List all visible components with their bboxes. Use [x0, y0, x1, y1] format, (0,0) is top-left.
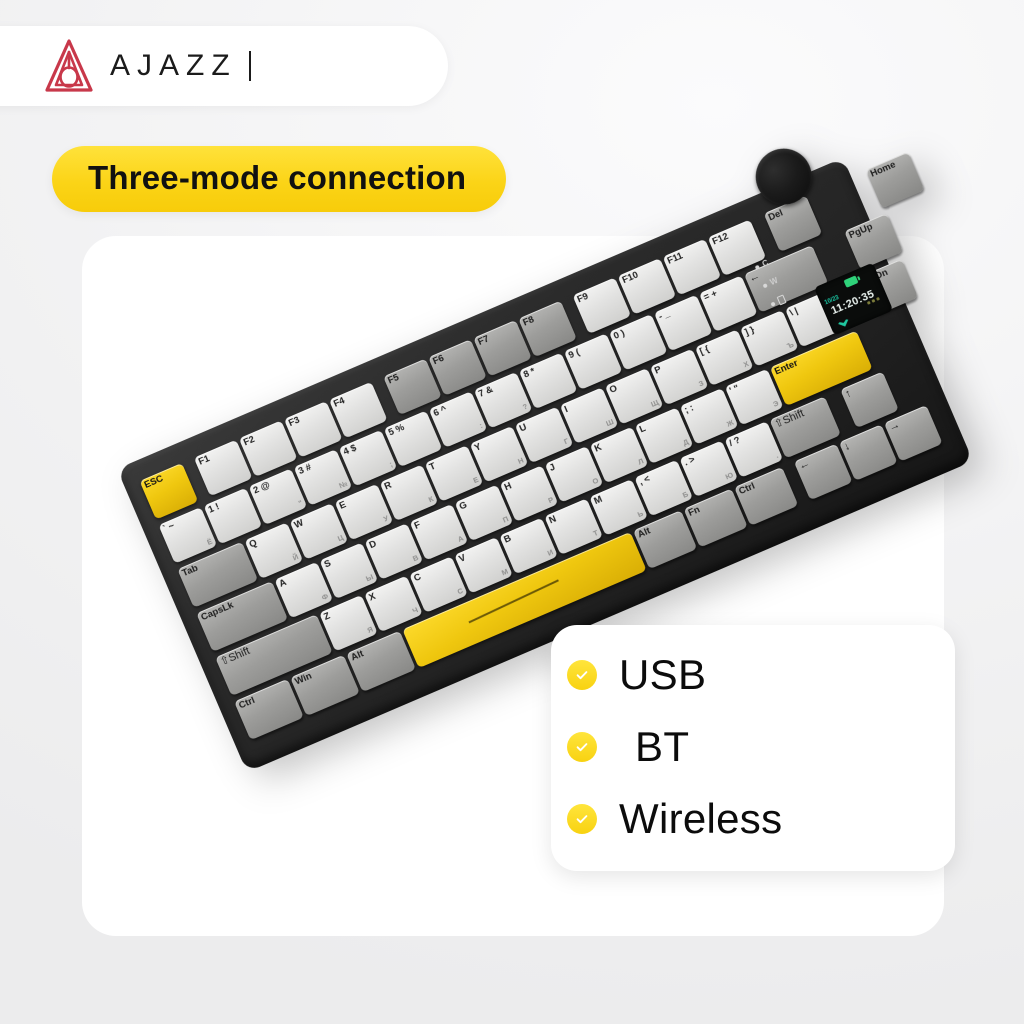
brand-logo-pill: AJAZZ: [0, 26, 448, 106]
feature-list-card: USBBTWireless: [551, 625, 955, 871]
headline-text: Three-mode connection: [88, 159, 466, 196]
key-home[interactable]: Home: [866, 152, 925, 209]
ajazz-triangle-logo-icon: [44, 39, 94, 93]
product-banner: ESCF1F2F3F4F5F6F7F8F9F10F11F12DelHome` ~…: [0, 0, 1024, 1024]
feature-label: BT: [619, 723, 689, 771]
key-legend: Del: [767, 208, 785, 223]
brand-name: AJAZZ: [110, 49, 237, 83]
check-circle-icon: [567, 804, 597, 834]
key-legend: Home: [869, 160, 897, 180]
check-circle-icon: [567, 732, 597, 762]
feature-item-wireless: Wireless: [551, 783, 955, 855]
feature-label: Wireless: [619, 795, 782, 843]
logo-divider: [249, 51, 251, 81]
feature-item-usb: USB: [551, 639, 955, 711]
rotary-knob[interactable]: [747, 140, 821, 214]
check-circle-icon: [567, 660, 597, 690]
feature-label: USB: [619, 651, 706, 699]
feature-item-bt: BT: [551, 711, 955, 783]
headline-badge: Three-mode connection: [52, 146, 506, 212]
